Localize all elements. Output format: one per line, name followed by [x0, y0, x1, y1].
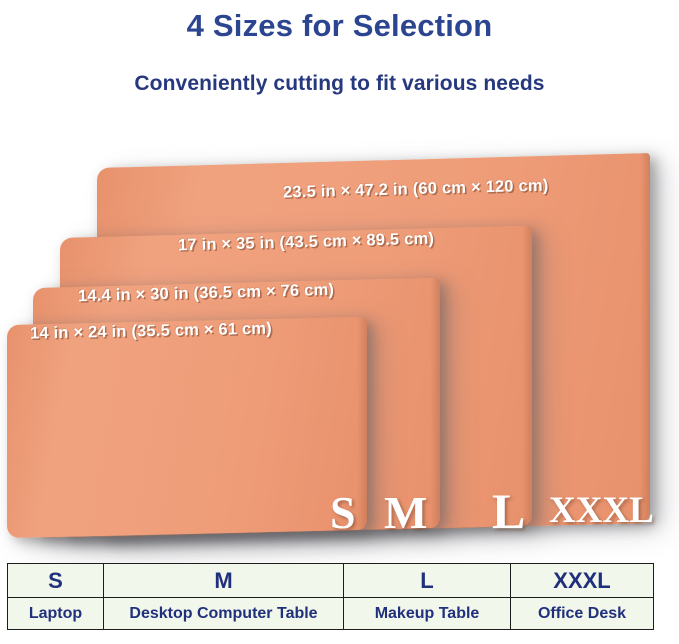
table-cell-use-m: Desktop Computer Table: [104, 598, 344, 630]
table-cell-code-m: M: [104, 564, 344, 598]
table-cell-code-s: S: [8, 564, 104, 598]
table-cell-use-s: Laptop: [8, 598, 104, 630]
table-cell-code-xxxl: XXXL: [511, 564, 654, 598]
table-row-uses: Laptop Desktop Computer Table Makeup Tab…: [8, 598, 654, 630]
mat-s: [7, 317, 367, 538]
size-letter-m: M: [384, 490, 427, 536]
table-cell-use-xxxl: Office Desk: [511, 598, 654, 630]
table-row-codes: S M L XXXL: [8, 564, 654, 598]
size-letter-l: L: [492, 486, 525, 536]
table-cell-use-l: Makeup Table: [344, 598, 511, 630]
size-reference-table: S M L XXXL Laptop Desktop Computer Table…: [7, 563, 654, 630]
table-cell-code-l: L: [344, 564, 511, 598]
mat-stack-illustration: 23.5 in × 47.2 in (60 cm × 120 cm) 17 in…: [0, 0, 679, 560]
size-letter-s: S: [330, 490, 356, 536]
size-letter-xxxl: XXXL: [549, 492, 654, 529]
